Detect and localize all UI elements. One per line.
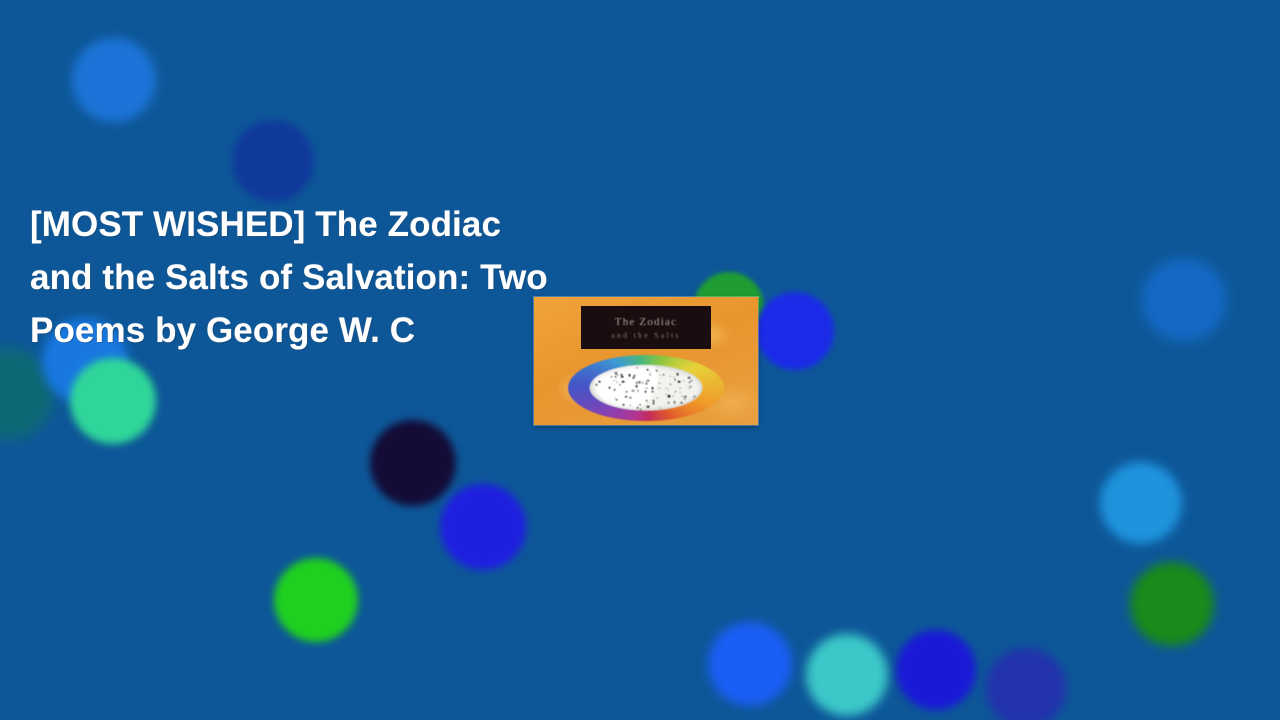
zodiac-detail-speck [673, 376, 674, 377]
circle-top-right-blue [1142, 258, 1226, 342]
zodiac-detail-speck [628, 374, 630, 376]
circle-bottom-blue-1 [708, 622, 792, 706]
zodiac-detail-speck [680, 388, 681, 389]
zodiac-detail-speck [652, 402, 654, 404]
zodiac-detail-speck [657, 397, 658, 398]
zodiac-detail-speck [642, 382, 644, 384]
zodiac-detail-speck [620, 384, 621, 385]
book-cover-title-band: The Zodiac and the Salts [581, 306, 711, 350]
zodiac-detail-speck [617, 375, 618, 376]
zodiac-detail-speck [599, 381, 601, 383]
zodiac-detail-speck [616, 382, 617, 383]
zodiac-detail-speck [651, 387, 653, 389]
zodiac-detail-speck [644, 390, 646, 392]
zodiac-detail-speck [667, 388, 668, 389]
circle-bottom-cyan [806, 634, 888, 716]
zodiac-detail-speck [637, 390, 638, 391]
zodiac-detail-speck [637, 367, 638, 368]
zodiac-detail-speck [675, 392, 676, 393]
circle-bottom-royal [896, 630, 976, 710]
zodiac-detail-speck [611, 376, 613, 378]
zodiac-detail-speck [684, 381, 685, 382]
zodiac-detail-speck [674, 401, 676, 403]
zodiac-detail-speck [645, 382, 646, 383]
zodiac-detail-speck [612, 381, 613, 382]
zodiac-detail-speck [651, 391, 653, 393]
circle-bottom-indigo [986, 648, 1066, 720]
zodiac-detail-speck [595, 384, 597, 386]
zodiac-detail-speck [660, 375, 661, 376]
zodiac-detail-speck [629, 397, 631, 399]
zodiac-detail-speck [670, 383, 672, 385]
zodiac-detail-speck [665, 387, 666, 388]
circle-right-of-cover-blue [756, 292, 834, 370]
zodiac-detail-speck [677, 373, 679, 375]
zodiac-detail-speck [645, 399, 647, 401]
zodiac-detail-speck [625, 391, 627, 393]
zodiac-detail-speck [653, 400, 655, 402]
zodiac-detail-speck [623, 404, 625, 406]
zodiac-detail-speck [689, 386, 691, 388]
zodiac-detail-speck [650, 372, 651, 373]
zodiac-detail-speck [670, 376, 671, 377]
zodiac-detail-speck [621, 380, 623, 382]
book-cover-band-subtitle: and the Salts [611, 331, 680, 340]
zodiac-wheel-icon [568, 355, 725, 422]
video-frame: [MOST WISHED] The Zodiac and the Salts o… [0, 0, 1280, 720]
zodiac-detail-speck [662, 374, 664, 376]
zodiac-detail-speck [636, 385, 638, 387]
circle-right-green [1130, 562, 1214, 646]
zodiac-detail-speck [613, 388, 615, 390]
zodiac-detail-speck [615, 376, 617, 378]
book-cover-band-title: The Zodiac [615, 316, 677, 328]
zodiac-detail-speck [646, 369, 648, 371]
zodiac-detail-speck [681, 401, 683, 403]
zodiac-detail-speck [659, 383, 660, 384]
zodiac-detail-speck [636, 382, 638, 384]
zodiac-detail-speck [632, 390, 634, 392]
zodiac-detail-speck [647, 406, 650, 409]
circle-mid-royal-blue [440, 484, 526, 570]
zodiac-detail-speck [690, 380, 692, 382]
zodiac-detail-speck [645, 382, 647, 384]
book-cover-thumbnail: The Zodiac and the Salts [534, 297, 758, 425]
zodiac-detail-speck [636, 407, 638, 409]
zodiac-detail-speck [694, 396, 695, 397]
zodiac-detail-speck [684, 397, 686, 399]
zodiac-detail-speck [673, 396, 674, 397]
circle-top-left-bright-blue [72, 38, 156, 122]
zodiac-detail-speck [615, 398, 617, 400]
zodiac-detail-speck [666, 394, 667, 395]
zodiac-detail-speck [639, 404, 641, 406]
circle-top-mid-deep-blue [232, 120, 314, 202]
zodiac-detail-speck [679, 392, 680, 393]
zodiac-detail-speck [668, 395, 671, 398]
zodiac-detail-speck [667, 402, 669, 404]
zodiac-wheel-core [590, 365, 703, 412]
zodiac-detail-speck [688, 388, 689, 389]
zodiac-detail-speck [638, 381, 640, 383]
zodiac-detail-speck [659, 388, 660, 389]
zodiac-detail-speck [615, 372, 617, 374]
zodiac-detail-speck [660, 407, 661, 408]
zodiac-detail-speck [649, 374, 650, 375]
zodiac-detail-speck [625, 396, 627, 398]
circle-right-sky-blue [1100, 462, 1182, 544]
zodiac-detail-speck [675, 391, 676, 392]
zodiac-detail-speck [622, 376, 624, 378]
zodiac-detail-speck [647, 388, 648, 389]
zodiac-detail-speck [674, 379, 676, 381]
circle-bottom-green [274, 558, 358, 642]
zodiac-detail-speck [630, 404, 631, 405]
circle-left-spring-green [70, 358, 156, 444]
zodiac-detail-speck [655, 369, 657, 371]
zodiac-detail-speck [678, 380, 680, 382]
zodiac-detail-speck [692, 398, 693, 399]
zodiac-detail-speck [639, 409, 641, 411]
zodiac-detail-speck [633, 377, 635, 379]
zodiac-detail-speck [647, 379, 649, 381]
circle-mid-dark-navy [370, 420, 456, 506]
zodiac-detail-speck [688, 377, 690, 379]
zodiac-detail-speck [608, 387, 610, 389]
